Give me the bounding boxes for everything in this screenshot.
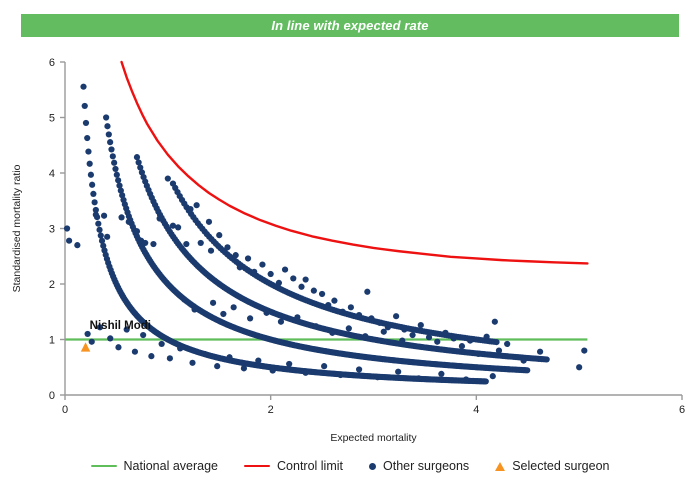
data-point-other-surgeon xyxy=(311,288,317,294)
x-axis-tick-label: 6 xyxy=(679,404,685,416)
data-point-other-surgeon xyxy=(492,319,498,325)
data-point-other-surgeon xyxy=(276,280,282,286)
data-point-other-surgeon xyxy=(362,333,368,339)
data-point-other-surgeon xyxy=(278,319,284,325)
data-point-other-surgeon xyxy=(375,374,381,380)
data-point-other-surgeon xyxy=(83,120,89,126)
data-point-other-surgeon xyxy=(521,357,527,363)
data-point-other-surgeon xyxy=(331,298,337,304)
funnel-plot-page: In line with expected rate 01234560246Ex… xyxy=(0,0,700,500)
legend-item-label: Control limit xyxy=(277,459,343,473)
data-point-other-surgeon xyxy=(395,369,401,375)
data-point-other-surgeon xyxy=(524,367,530,373)
data-point-other-surgeon xyxy=(132,349,138,355)
data-point-other-surgeon xyxy=(88,172,94,178)
data-point-other-surgeon xyxy=(115,177,121,183)
data-point-other-surgeon xyxy=(348,304,354,310)
data-point-other-surgeon xyxy=(259,261,265,267)
data-point-other-surgeon xyxy=(313,323,319,329)
chart-legend: National averageControl limitOther surge… xyxy=(0,452,700,480)
data-point-other-surgeon xyxy=(140,332,146,338)
data-point-other-surgeon xyxy=(544,356,550,362)
data-point-other-surgeon xyxy=(95,221,101,227)
data-point-other-surgeon xyxy=(247,315,253,321)
data-point-other-surgeon xyxy=(231,304,237,310)
data-point-other-surgeon xyxy=(576,364,582,370)
data-point-other-surgeon xyxy=(537,349,543,355)
data-point-other-surgeon xyxy=(475,351,481,357)
x-axis-title: Expected mortality xyxy=(330,432,417,444)
data-point-other-surgeon xyxy=(112,166,118,172)
data-point-other-surgeon xyxy=(96,227,102,233)
data-point-other-surgeon xyxy=(467,338,473,344)
data-point-other-surgeon xyxy=(115,344,121,350)
data-point-other-surgeon xyxy=(418,322,424,328)
data-point-other-surgeon xyxy=(103,114,109,120)
funnel-plot-svg: 01234560246Expected mortalityStandardise… xyxy=(0,44,700,444)
data-point-other-surgeon xyxy=(493,339,499,345)
data-point-other-surgeon xyxy=(346,325,352,331)
data-point-other-surgeon xyxy=(177,345,183,351)
legend-item-label: National average xyxy=(124,459,219,473)
legend-item-other-surgeons[interactable]: Other surgeons xyxy=(369,459,469,473)
data-point-other-surgeon xyxy=(107,335,113,341)
data-point-other-surgeon xyxy=(214,363,220,369)
data-point-other-surgeon xyxy=(106,131,112,137)
data-point-other-surgeon xyxy=(356,312,362,318)
data-point-other-surgeon xyxy=(198,240,204,246)
legend-item-label: Selected surgeon xyxy=(512,459,609,473)
data-point-other-surgeon xyxy=(401,326,407,332)
data-point-other-surgeon xyxy=(142,240,148,246)
data-point-other-surgeon xyxy=(490,373,496,379)
data-point-other-surgeon xyxy=(337,372,343,378)
x-axis-tick-label: 2 xyxy=(268,404,274,416)
data-point-other-surgeon xyxy=(504,341,510,347)
data-point-other-surgeon xyxy=(303,276,309,282)
data-point-other-surgeon xyxy=(107,139,113,145)
legend-line-swatch-icon xyxy=(244,465,270,468)
status-banner-label: In line with expected rate xyxy=(271,18,428,33)
data-point-other-surgeon xyxy=(286,361,292,367)
data-point-other-surgeon xyxy=(108,146,114,152)
y-axis-tick-label: 1 xyxy=(49,335,55,347)
control-limit-curve xyxy=(122,62,588,263)
data-point-other-surgeon xyxy=(356,366,362,372)
data-point-other-surgeon xyxy=(226,354,232,360)
data-point-other-surgeon xyxy=(101,213,107,219)
data-point-other-surgeon xyxy=(368,315,374,321)
legend-item-label: Other surgeons xyxy=(383,459,469,473)
data-point-other-surgeon xyxy=(165,175,171,181)
data-point-other-surgeon xyxy=(210,300,216,306)
data-point-other-surgeon xyxy=(451,335,457,341)
data-point-other-surgeon xyxy=(208,248,214,254)
data-point-other-surgeon xyxy=(126,219,132,225)
data-point-other-surgeon xyxy=(263,310,269,316)
x-axis-tick-label: 0 xyxy=(62,404,68,416)
data-point-other-surgeon xyxy=(98,232,104,238)
data-point-other-surgeon xyxy=(459,343,465,349)
data-point-other-surgeon xyxy=(90,191,96,197)
data-point-other-surgeon xyxy=(175,224,181,230)
data-point-other-surgeon xyxy=(251,269,257,275)
data-point-other-surgeon xyxy=(191,306,197,312)
data-point-other-surgeon xyxy=(89,339,95,345)
data-point-other-surgeon xyxy=(241,365,247,371)
y-axis-tick-label: 6 xyxy=(49,57,55,69)
data-point-other-surgeon xyxy=(206,219,212,225)
data-point-other-surgeon xyxy=(64,225,70,231)
data-point-other-surgeon xyxy=(216,232,222,238)
data-point-other-surgeon xyxy=(189,360,195,366)
status-banner: In line with expected rate xyxy=(21,14,679,37)
data-point-other-surgeon xyxy=(255,357,261,363)
data-point-other-surgeon xyxy=(321,363,327,369)
data-point-other-surgeon xyxy=(93,212,99,218)
data-point-other-surgeon xyxy=(325,302,331,308)
data-point-other-surgeon xyxy=(484,334,490,340)
data-point-other-surgeon xyxy=(74,242,80,248)
data-point-other-surgeon xyxy=(104,234,110,240)
data-point-other-surgeon xyxy=(434,339,440,345)
x-axis-tick-label: 4 xyxy=(473,404,479,416)
data-point-other-surgeon xyxy=(66,238,72,244)
data-point-other-surgeon xyxy=(148,353,154,359)
data-point-other-surgeon xyxy=(82,103,88,109)
legend-item-national-average[interactable]: National average xyxy=(91,459,219,473)
selected-surgeon-annotation: Nishil Modi xyxy=(90,320,151,332)
data-point-other-surgeon xyxy=(150,241,156,247)
data-point-other-surgeon xyxy=(245,255,251,261)
y-axis-tick-label: 5 xyxy=(49,113,55,125)
data-point-other-surgeon xyxy=(220,311,226,317)
data-point-other-surgeon xyxy=(483,378,489,384)
y-axis-tick-label: 4 xyxy=(49,168,55,180)
data-point-other-surgeon xyxy=(187,206,193,212)
data-point-other-surgeon xyxy=(381,329,387,335)
data-point-other-surgeon xyxy=(393,313,399,319)
data-point-other-surgeon xyxy=(224,244,230,250)
data-point-other-surgeon xyxy=(364,289,370,295)
data-point-other-surgeon xyxy=(167,355,173,361)
data-point-other-surgeon xyxy=(294,314,300,320)
legend-line-swatch-icon xyxy=(91,465,117,468)
data-point-other-surgeon xyxy=(409,332,415,338)
data-point-other-surgeon xyxy=(237,264,243,270)
chart-container: 01234560246Expected mortalityStandardise… xyxy=(0,44,700,444)
data-point-other-surgeon xyxy=(377,320,383,326)
data-point-other-surgeon xyxy=(104,123,110,129)
data-point-other-surgeon xyxy=(319,291,325,297)
data-point-other-surgeon xyxy=(329,330,335,336)
data-point-other-surgeon xyxy=(298,284,304,290)
data-point-other-surgeon xyxy=(438,371,444,377)
data-point-other-surgeon xyxy=(426,334,432,340)
data-point-other-surgeon xyxy=(118,214,124,220)
data-point-other-surgeon xyxy=(80,84,86,90)
data-point-other-surgeon xyxy=(134,154,140,160)
data-point-other-surgeon xyxy=(233,252,239,258)
data-point-other-surgeon xyxy=(157,215,163,221)
data-point-other-surgeon xyxy=(290,275,296,281)
data-point-other-surgeon xyxy=(416,375,422,381)
data-point-other-surgeon xyxy=(399,338,405,344)
data-point-other-surgeon xyxy=(87,161,93,167)
data-point-other-surgeon xyxy=(303,370,309,376)
data-point-other-surgeon xyxy=(442,330,448,336)
data-point-other-surgeon xyxy=(463,376,469,382)
data-point-other-surgeon xyxy=(85,148,91,154)
data-point-other-surgeon xyxy=(159,341,165,347)
data-point-other-surgeon xyxy=(496,348,502,354)
data-point-other-surgeon xyxy=(134,228,140,234)
legend-triangle-swatch-icon xyxy=(495,462,505,471)
data-point-other-surgeon xyxy=(282,266,288,272)
data-point-other-surgeon xyxy=(84,135,90,141)
data-point-other-surgeon xyxy=(270,367,276,373)
legend-item-selected-surgeon[interactable]: Selected surgeon xyxy=(495,459,609,473)
data-point-other-surgeon xyxy=(194,202,200,208)
data-point-other-surgeon xyxy=(114,172,120,178)
data-point-other-surgeon xyxy=(89,182,95,188)
data-point-other-surgeon xyxy=(340,309,346,315)
data-point-other-surgeon xyxy=(181,296,187,302)
legend-dot-swatch-icon xyxy=(369,463,376,470)
legend-item-control-limit[interactable]: Control limit xyxy=(244,459,343,473)
data-point-other-surgeon xyxy=(110,153,116,159)
data-point-other-surgeon xyxy=(183,241,189,247)
y-axis-title: Standardised mortality ratio xyxy=(11,164,23,292)
y-axis-tick-label: 0 xyxy=(49,390,55,402)
y-axis-tick-label: 3 xyxy=(49,224,55,236)
data-point-other-surgeon xyxy=(268,271,274,277)
data-point-other-surgeon xyxy=(202,351,208,357)
data-point-other-surgeon xyxy=(581,348,587,354)
y-axis-tick-label: 2 xyxy=(49,279,55,291)
data-point-other-surgeon xyxy=(111,160,117,166)
data-point-other-surgeon xyxy=(92,199,98,205)
data-point-selected-surgeon[interactable] xyxy=(81,342,91,351)
